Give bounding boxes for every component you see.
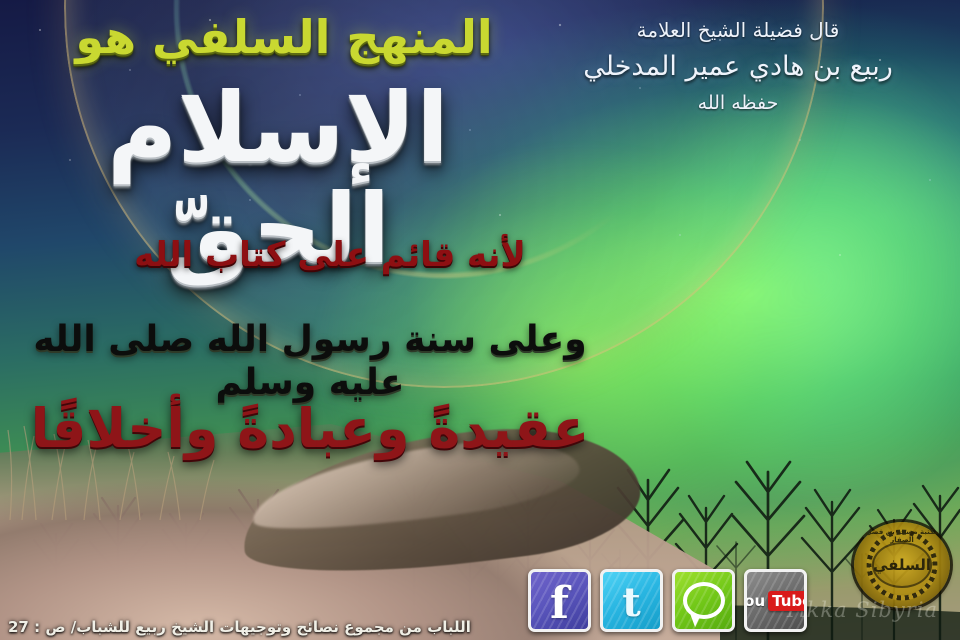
poster-canvas: قال فضيلة الشيخ العلامة ربيع بن هادي عمي… bbox=[0, 0, 960, 640]
youtube-you-text: You bbox=[744, 592, 765, 610]
attribution-said-by: قال فضيلة الشيخ العلامة bbox=[538, 18, 938, 43]
seal-outer-text: مكتبة مسجد بن فضل الصفار bbox=[854, 528, 950, 544]
body-line-black: وعلى سنة رسول الله صلى الله عليه وسلم bbox=[10, 318, 610, 404]
social-icon-row: f t You Tube bbox=[528, 569, 807, 632]
body-line-red-1: لأنه قائم على كتاب الله bbox=[100, 236, 560, 275]
chat-bubble-shape bbox=[683, 582, 725, 619]
body-line-red-2: عقيدةً وعبادةً وأخلاقًا bbox=[20, 398, 600, 460]
youtube-tube-text: Tube bbox=[768, 591, 807, 611]
source-citation: اللباب من مجموع نصائح وتوجيهات الشيخ ربي… bbox=[8, 618, 471, 636]
attribution-block: قال فضيلة الشيخ العلامة ربيع بن هادي عمي… bbox=[538, 18, 938, 116]
message-bubble-icon[interactable] bbox=[672, 569, 735, 632]
youtube-wordmark: You Tube bbox=[744, 591, 807, 611]
twitter-icon[interactable]: t bbox=[600, 569, 663, 632]
headline-line-1: المنهج السلفي هو bbox=[44, 12, 524, 63]
organization-seal: مكتبة مسجد بن فضل الصفار السلفي bbox=[854, 522, 950, 608]
attribution-scholar-name: ربيع بن هادي عمير المدخلي bbox=[538, 49, 938, 84]
attribution-honorific: حفظه الله bbox=[538, 92, 938, 116]
youtube-icon[interactable]: You Tube bbox=[744, 569, 807, 632]
facebook-icon[interactable]: f bbox=[528, 569, 591, 632]
facebook-glyph: f bbox=[550, 582, 569, 626]
twitter-glyph: t bbox=[622, 583, 640, 623]
